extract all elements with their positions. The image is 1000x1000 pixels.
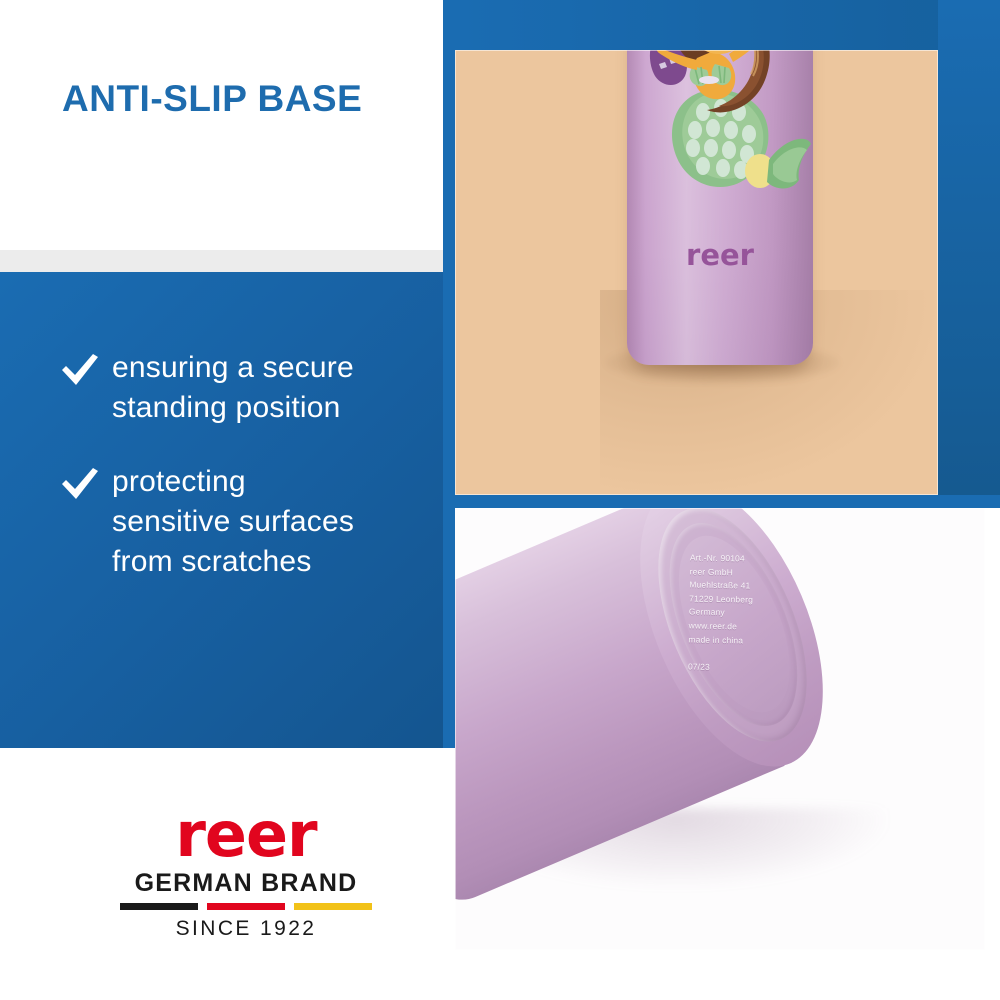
logo-since-line: SINCE 1922 <box>120 917 372 941</box>
mermaid-illustration <box>631 50 811 238</box>
page-title: ANTI-SLIP BASE <box>62 78 362 120</box>
feature-list: ensuring a secure standing position prot… <box>60 348 450 615</box>
list-item-label: ensuring a secure standing position <box>112 348 354 428</box>
logo-wordmark: reer <box>120 806 372 863</box>
check-icon <box>60 462 100 502</box>
bottle-brand-label: reer <box>627 238 813 272</box>
blue-frame-middle <box>455 495 1000 508</box>
reer-logo: reer GERMAN BRAND SINCE 1922 <box>120 806 372 941</box>
gray-divider-strip <box>0 250 455 272</box>
blue-frame-left <box>443 0 455 748</box>
product-photo-base: Art.-Nr. 90104 reer GmbH Muehlstraße 41 … <box>455 508 985 950</box>
german-flag-bars <box>120 903 372 910</box>
product-photo-standing: reer <box>455 50 938 495</box>
flag-bar-red <box>207 903 285 910</box>
list-item-label: protecting sensitive surfaces from scrat… <box>112 462 354 582</box>
blue-frame-right <box>938 0 1000 508</box>
check-icon <box>60 348 100 388</box>
blue-frame-top <box>455 0 1000 50</box>
flag-bar-gold <box>294 903 372 910</box>
flag-bar-black <box>120 903 198 910</box>
logo-brand-line: GERMAN BRAND <box>120 869 372 898</box>
list-item: ensuring a secure standing position <box>60 348 450 428</box>
marketing-banner: ANTI-SLIP BASE ensuring a secure standin… <box>0 0 1000 1000</box>
base-engraving-text: Art.-Nr. 90104 reer GmbH Muehlstraße 41 … <box>688 551 776 675</box>
list-item: protecting sensitive surfaces from scrat… <box>60 462 450 582</box>
